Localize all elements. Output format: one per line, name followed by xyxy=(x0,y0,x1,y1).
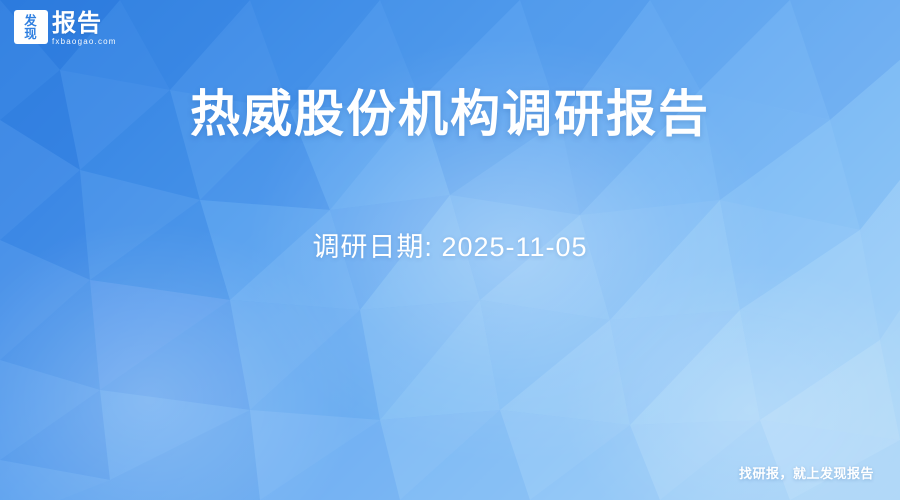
logo-wordmark: 报告 xyxy=(52,11,117,37)
logo-url: fxbaogao.com xyxy=(52,37,117,47)
footer-slogan: 找研报，就上发现报告 xyxy=(739,463,874,482)
page-title: 热威股份机构调研报告 xyxy=(0,82,900,146)
brand-logo: 发 现 报告 fxbaogao.com xyxy=(14,10,117,47)
title-slide: 发 现 报告 fxbaogao.com 热威股份机构调研报告 调研日期: 202… xyxy=(0,0,900,500)
survey-date-subtitle: 调研日期: 2025-11-05 xyxy=(0,229,900,265)
title-block: 热威股份机构调研报告 调研日期: 2025-11-05 xyxy=(0,82,900,265)
logo-text-block: 报告 fxbaogao.com xyxy=(52,10,117,47)
logo-mark-char-bottom: 现 xyxy=(25,27,37,39)
logo-mark-char-top: 发 xyxy=(25,14,37,26)
logo-mark-icon: 发 现 xyxy=(14,10,48,44)
